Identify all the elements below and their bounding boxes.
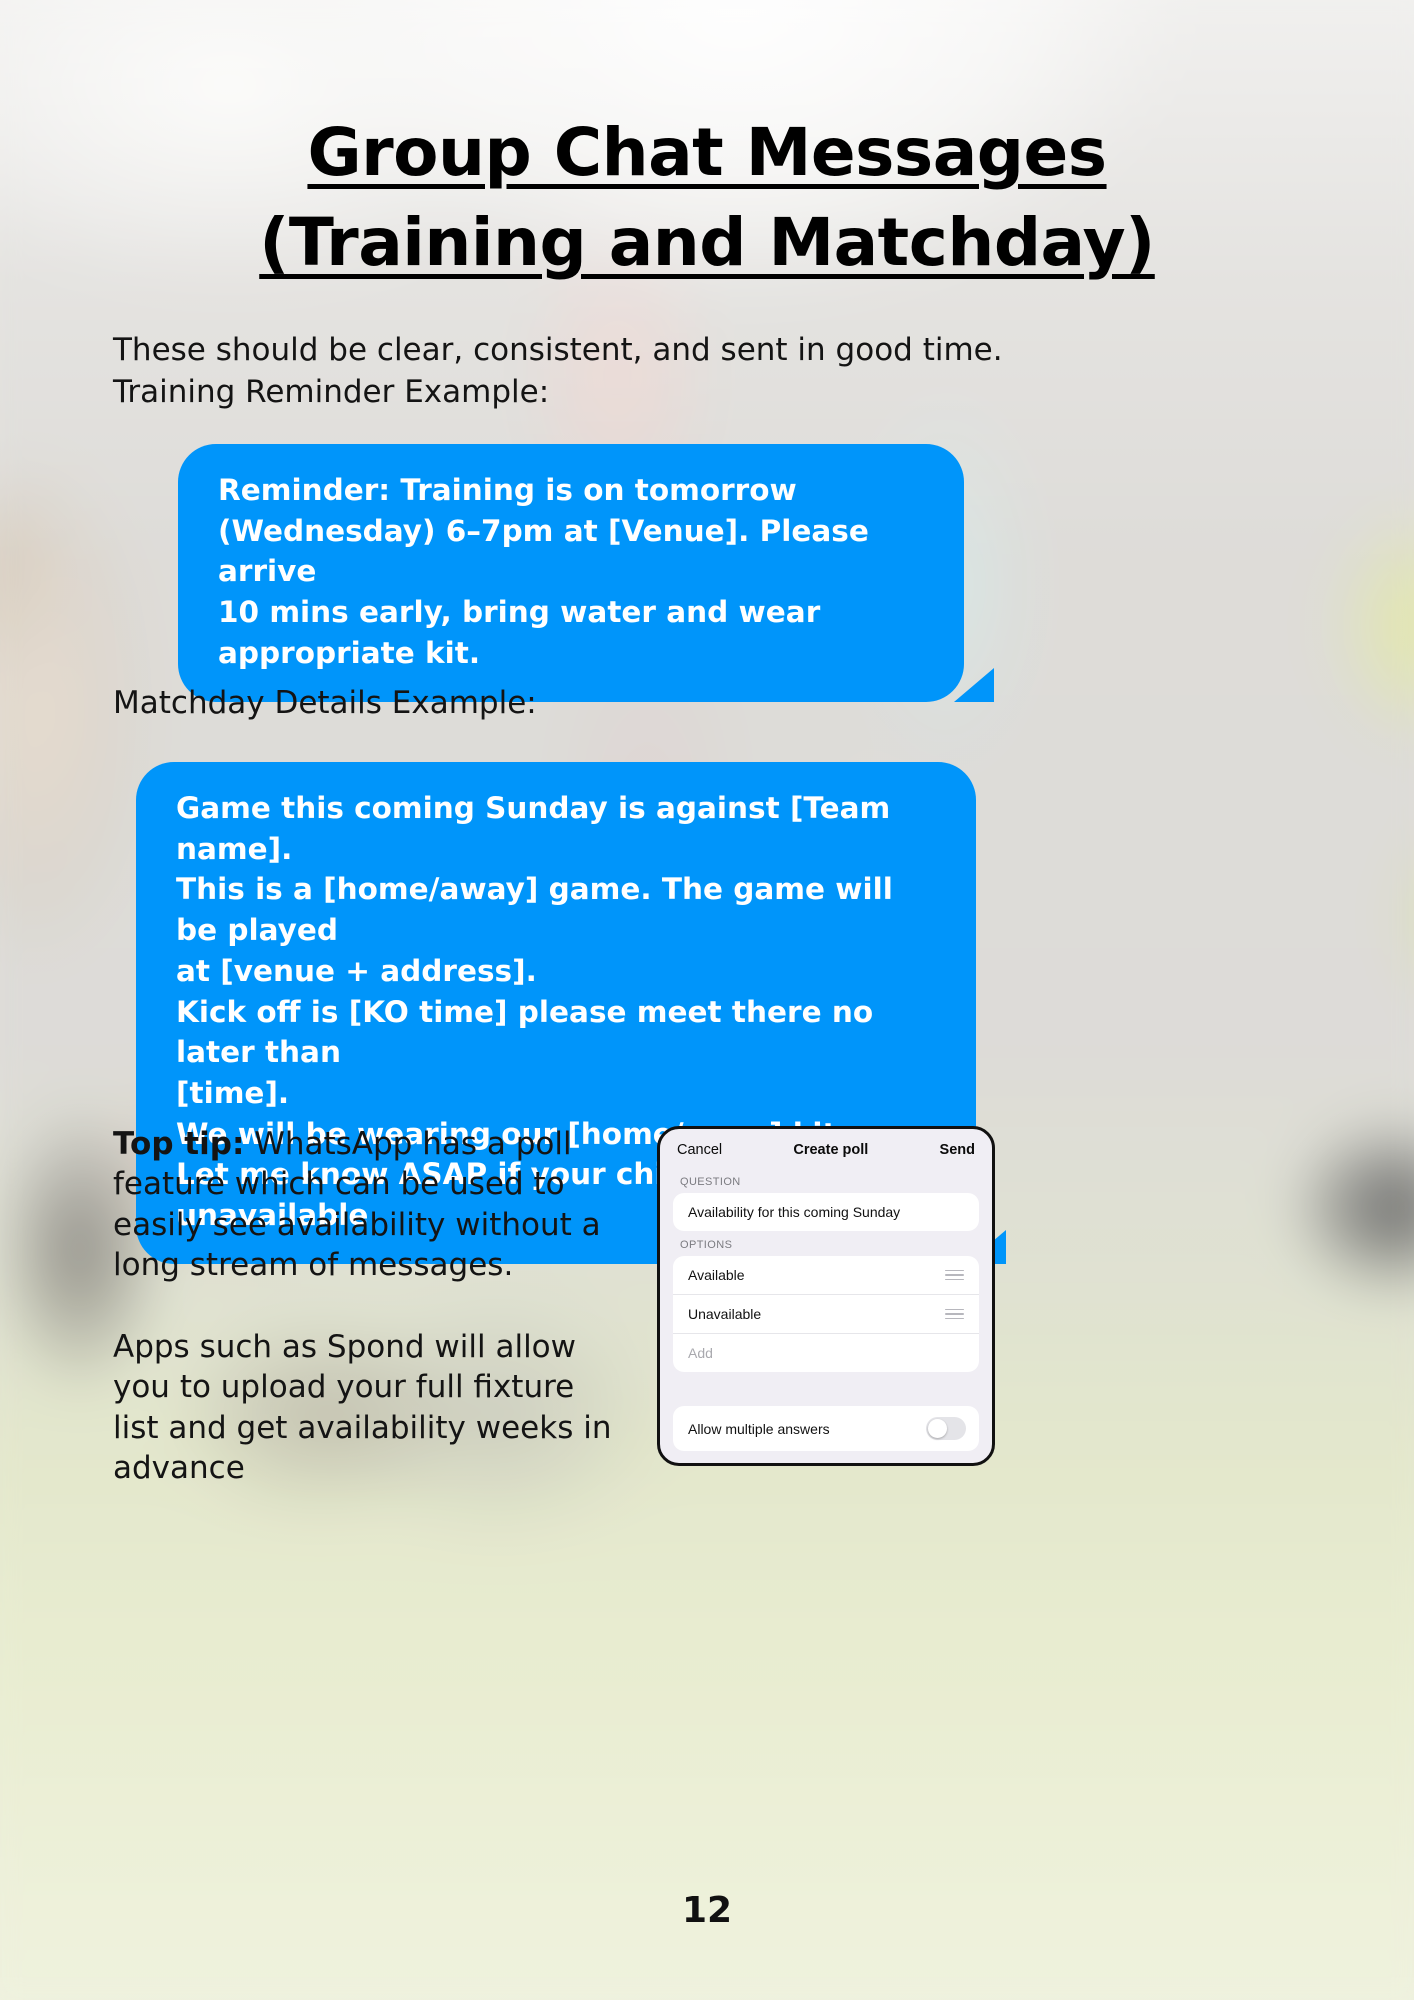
matchday-bubble-line-4: Kick off is [KO time] please meet there … [176, 992, 936, 1073]
matchday-bubble-line-5: [time]. [176, 1073, 936, 1114]
poll-option-label: Available [688, 1267, 745, 1283]
poll-add-option-row[interactable]: Add [673, 1334, 979, 1372]
poll-header: Cancel Create poll Send [660, 1129, 992, 1168]
page-number: 12 [0, 1890, 1414, 1931]
page-content: Group Chat Messages (Training and Matchd… [0, 0, 1414, 2000]
top-tip-section: Top tip: WhatsApp has a poll feature whi… [113, 1124, 628, 1488]
poll-allow-multiple-row[interactable]: Allow multiple answers [673, 1406, 979, 1451]
matchday-bubble-line-1: Game this coming Sunday is against [Team… [176, 788, 936, 869]
training-bubble-line-3: 10 mins early, bring water and wear [218, 592, 924, 633]
poll-question-section-label: QUESTION [660, 1168, 992, 1193]
training-bubble-line-4: appropriate kit. [218, 633, 924, 674]
allow-multiple-toggle[interactable] [926, 1417, 966, 1440]
whatsapp-create-poll-card: Cancel Create poll Send QUESTION Availab… [657, 1126, 995, 1466]
poll-option-label: Unavailable [688, 1306, 761, 1322]
poll-options-section-label: OPTIONS [660, 1231, 992, 1256]
bubble-tail-icon [954, 668, 994, 702]
matchday-bubble-line-2: This is a [home/away] game. The game wil… [176, 869, 936, 950]
intro-line-1: These should be clear, consistent, and s… [113, 330, 1013, 372]
page-title-line-1: Group Chat Messages [307, 114, 1106, 191]
poll-send-button[interactable]: Send [940, 1142, 975, 1158]
training-bubble-line-1: Reminder: Training is on tomorrow [218, 470, 924, 511]
apps-paragraph: Apps such as Spond will allow you to upl… [113, 1327, 628, 1488]
poll-cancel-button[interactable]: Cancel [677, 1142, 722, 1158]
poll-add-option-placeholder: Add [688, 1345, 713, 1361]
poll-title: Create poll [793, 1142, 868, 1158]
drag-handle-icon[interactable] [945, 1309, 964, 1320]
poll-option-row[interactable]: Unavailable [673, 1295, 979, 1334]
intro-line-2: Training Reminder Example: [113, 372, 1013, 414]
poll-question-input[interactable]: Availability for this coming Sunday [673, 1193, 979, 1231]
page-title-line-2: (Training and Matchday) [259, 204, 1155, 281]
poll-allow-multiple-label: Allow multiple answers [688, 1421, 830, 1437]
poll-options-list: Available Unavailable Add [673, 1256, 979, 1372]
training-message-bubble: Reminder: Training is on tomorrow (Wedne… [178, 444, 964, 702]
poll-option-row[interactable]: Available [673, 1256, 979, 1295]
top-tip-label: Top tip: [113, 1126, 244, 1162]
intro-paragraph: These should be clear, consistent, and s… [113, 330, 1013, 413]
matchday-bubble-line-3: at [venue + address]. [176, 951, 936, 992]
matchday-label: Matchday Details Example: [113, 683, 537, 725]
drag-handle-icon[interactable] [945, 1270, 964, 1281]
page-title: Group Chat Messages (Training and Matchd… [0, 0, 1414, 288]
toggle-knob-icon [928, 1419, 947, 1438]
training-bubble-line-2: (Wednesday) 6–7pm at [Venue]. Please arr… [218, 511, 924, 592]
document-page: Group Chat Messages (Training and Matchd… [0, 0, 1414, 2000]
